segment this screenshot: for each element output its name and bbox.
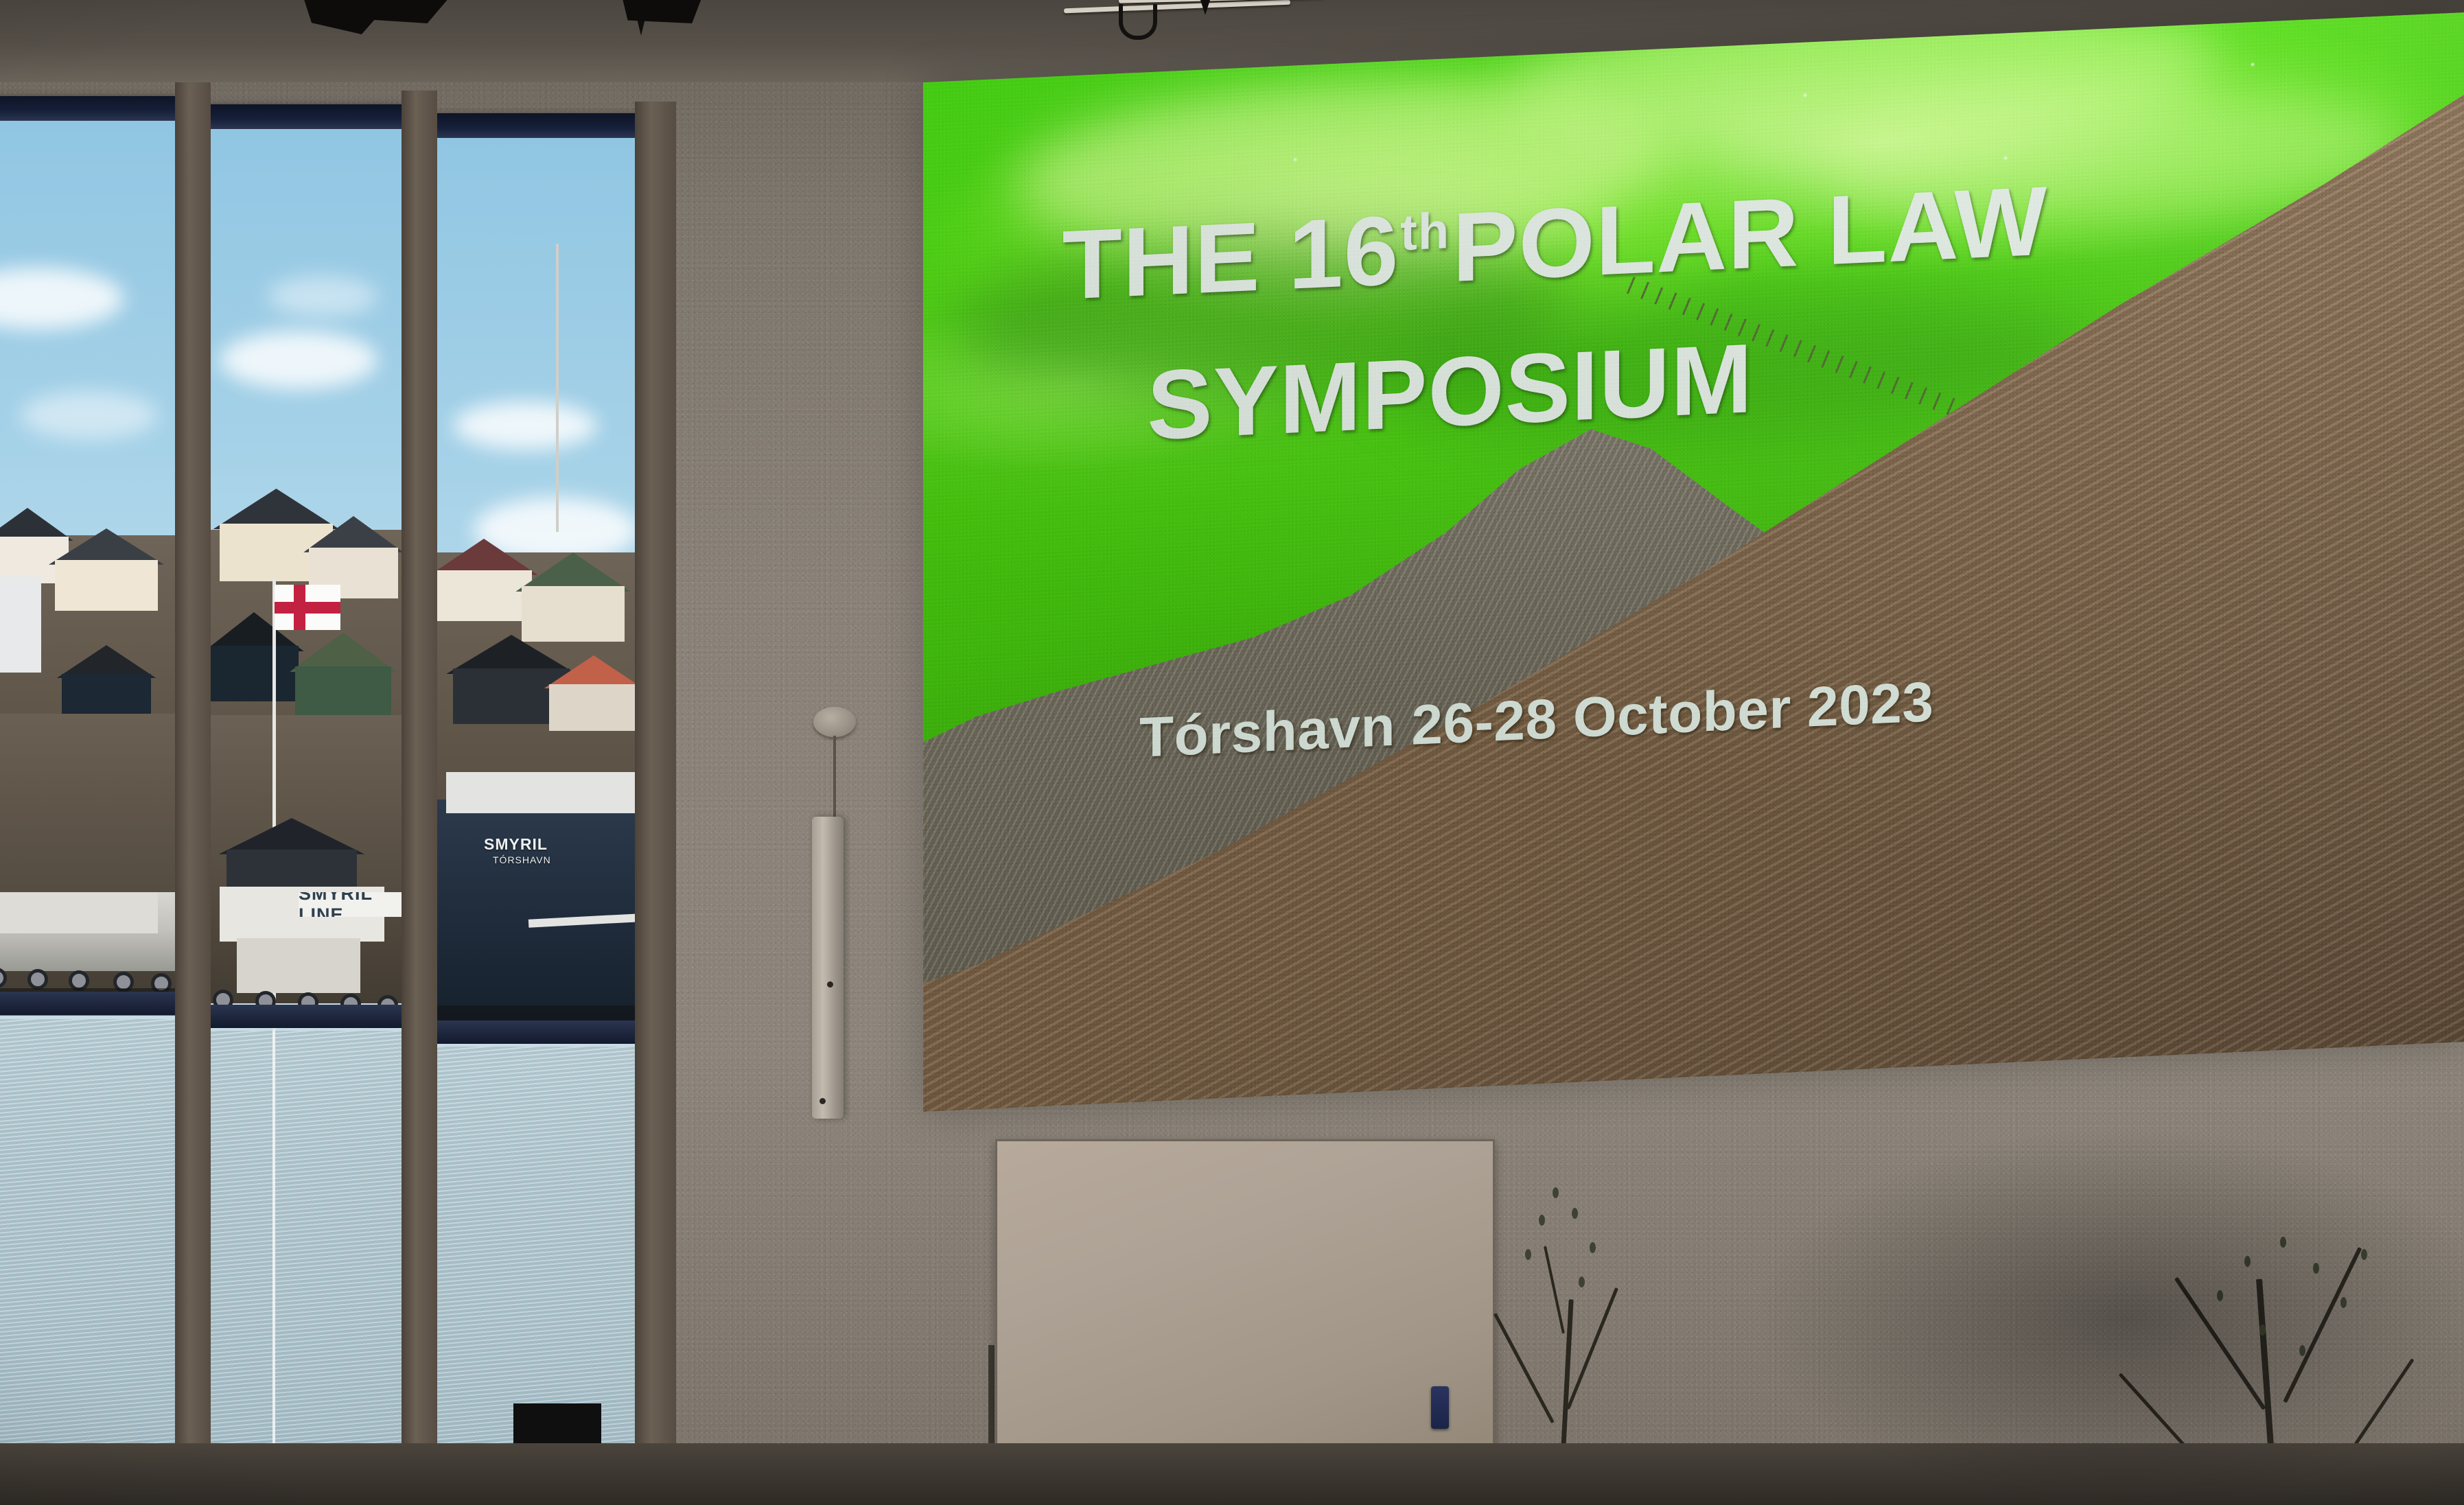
house (62, 645, 151, 721)
ceiling-hook (1119, 4, 1157, 40)
whiteboard-surface[interactable] (995, 1139, 1495, 1456)
ship-gangway (528, 913, 638, 927)
window-pane-2: SMYRIL LINE (206, 104, 405, 1480)
window-pane-3: SMYRIL TÓRSHAVN FRÓÐSKAPARSETUR FØROYA U… (432, 113, 638, 1505)
leaf (2313, 1263, 2319, 1274)
leaf (2259, 1325, 2266, 1335)
water-ripples (0, 1019, 178, 1462)
window-frame-right (635, 102, 676, 1505)
pendant-screw (827, 981, 833, 988)
water-ripples (206, 1031, 405, 1480)
leaf (2280, 1237, 2286, 1248)
projected-slide: THE 16thPOLAR LAW SYMPOSIUM Tórshavn 26-… (923, 12, 2464, 1112)
dock-building (0, 892, 158, 933)
window-blind-bottom (206, 1005, 405, 1028)
slide-canvas: THE 16thPOLAR LAW SYMPOSIUM Tórshavn 26-… (923, 12, 2464, 1112)
window-mullion-1 (175, 82, 211, 1505)
ship-superstructure (446, 772, 638, 813)
sea-water (206, 1031, 405, 1480)
room-photo: SMYRIL LINE (0, 0, 2464, 1505)
house (295, 633, 391, 722)
smyril-line-sign: SMYRIL LINE (299, 892, 405, 917)
ceiling-clip-2 (1196, 0, 1215, 15)
leaf (1579, 1276, 1585, 1287)
leaf (1553, 1187, 1559, 1198)
sea-water (0, 1019, 178, 1462)
house (0, 576, 41, 673)
leaf (1525, 1249, 1531, 1260)
window-pane-1 (0, 96, 178, 1462)
flagpole-lower (272, 1031, 275, 1477)
branch (1544, 1246, 1565, 1333)
pendant-ceiling-mount (813, 707, 856, 737)
window-wall: SMYRIL LINE (0, 0, 748, 1505)
whiteboard-magnet[interactable] (1431, 1386, 1449, 1429)
window-blind-top (0, 96, 178, 121)
star (1804, 94, 1806, 97)
ferry-smyril: SMYRIL TÓRSHAVN (432, 800, 638, 1026)
dock-shed (237, 938, 360, 993)
window-blind-bottom (432, 1020, 638, 1044)
ship-mast (556, 244, 559, 532)
faroe-islands-flag (275, 585, 340, 630)
house (55, 528, 158, 611)
leaf (2361, 1249, 2367, 1260)
branch (1566, 1287, 1618, 1410)
ship-name-label: SMYRIL (484, 835, 548, 854)
leaf (1572, 1208, 1578, 1219)
leaf (2244, 1256, 2251, 1267)
cloud (21, 391, 158, 439)
cloud (220, 331, 377, 389)
leaf (1539, 1215, 1545, 1226)
ship-port-label: TÓRSHAVN (493, 854, 551, 865)
leaf (1590, 1242, 1596, 1253)
floor (0, 1443, 2464, 1505)
ordinal-suffix: th (1400, 202, 1450, 261)
house (522, 552, 625, 642)
branch (1493, 1313, 1555, 1423)
house (436, 539, 532, 621)
leaf (2217, 1290, 2223, 1301)
pendant-cable (833, 736, 836, 819)
leaf (2340, 1297, 2347, 1308)
window-mullion-2 (402, 91, 437, 1505)
pendant-screw (820, 1098, 826, 1104)
branch (2283, 1247, 2362, 1403)
dock-fender (27, 969, 48, 990)
cloud (268, 276, 377, 317)
window-blind-bottom (0, 992, 178, 1015)
window-blind-top (432, 113, 638, 138)
cloud (453, 401, 597, 450)
leaf (2299, 1345, 2305, 1356)
window-blind-top (206, 104, 405, 129)
pendant-speaker (812, 817, 844, 1119)
house (549, 655, 638, 731)
